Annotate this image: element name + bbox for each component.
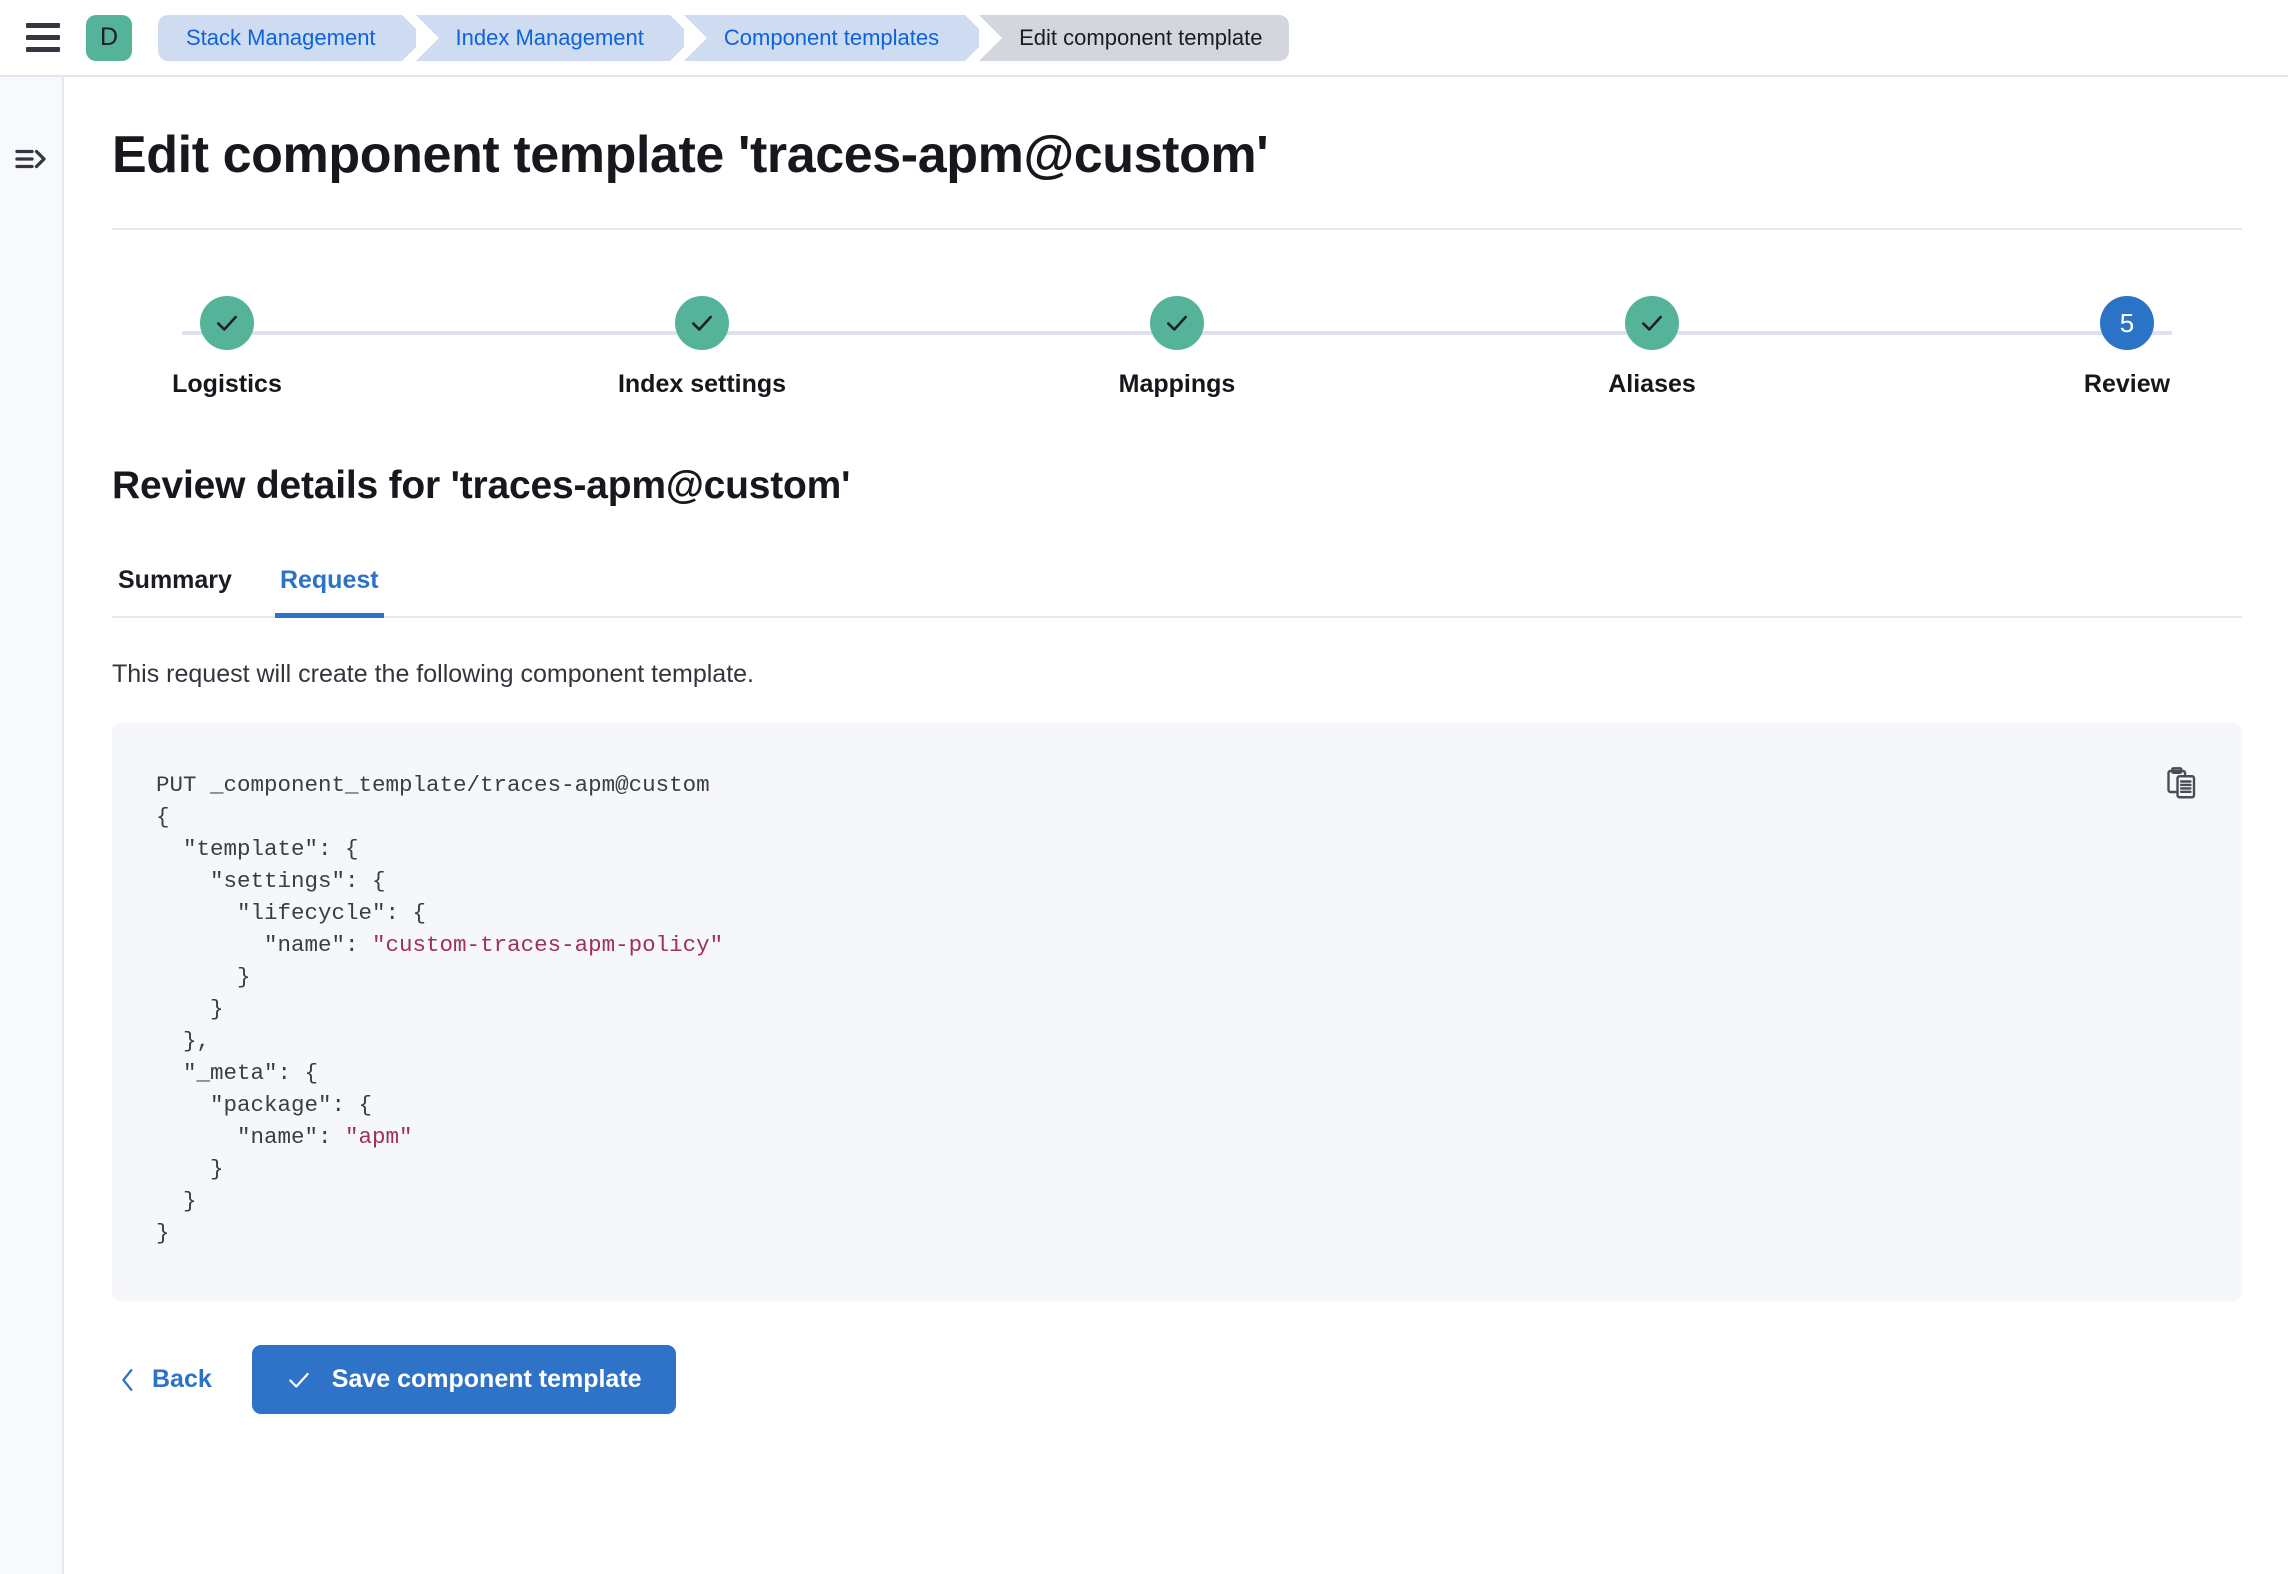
save-button-label: Save component template bbox=[332, 1365, 642, 1394]
code-line: } bbox=[156, 964, 251, 990]
tab-summary[interactable]: Summary bbox=[113, 566, 237, 618]
code-line: { bbox=[156, 804, 170, 830]
hamburger-menu-icon[interactable] bbox=[26, 21, 60, 55]
check-icon bbox=[1639, 310, 1665, 336]
code-string-value: "custom-traces-apm-policy" bbox=[372, 932, 723, 958]
step-mappings[interactable]: Mappings bbox=[1062, 296, 1292, 399]
wizard-footer: Back Save component template bbox=[112, 1345, 2288, 1414]
step-aliases[interactable]: Aliases bbox=[1537, 296, 1767, 399]
step-label: Mappings bbox=[1119, 370, 1236, 399]
code-line: "lifecycle": { bbox=[156, 900, 426, 926]
code-line: "package": { bbox=[156, 1092, 372, 1118]
step-complete-circle bbox=[1625, 296, 1679, 350]
back-button[interactable]: Back bbox=[112, 1357, 218, 1402]
code-line: "_meta": { bbox=[156, 1060, 318, 1086]
code-line: } bbox=[156, 1156, 224, 1182]
top-navigation-bar: D Stack Management Index Management Comp… bbox=[0, 0, 2288, 77]
review-heading: Review details for 'traces-apm@custom' bbox=[112, 464, 2288, 508]
breadcrumb-item-stack-management[interactable]: Stack Management bbox=[158, 15, 402, 61]
review-tabs: Summary Request bbox=[112, 564, 2242, 618]
tab-request[interactable]: Request bbox=[275, 566, 384, 618]
page-title: Edit component template 'traces-apm@cust… bbox=[112, 125, 2288, 185]
request-code-text: PUT _component_template/traces-apm@custo… bbox=[156, 769, 2202, 1249]
chevron-left-icon bbox=[118, 1367, 138, 1393]
code-line: "name": bbox=[156, 1124, 345, 1150]
step-complete-circle bbox=[1150, 296, 1204, 350]
step-logistics[interactable]: Logistics bbox=[112, 296, 342, 399]
step-label: Logistics bbox=[172, 370, 282, 399]
request-description: This request will create the following c… bbox=[112, 660, 2288, 689]
breadcrumb-item-edit-component-template: Edit component template bbox=[979, 15, 1288, 61]
step-label: Review bbox=[2084, 370, 2170, 399]
code-line: } bbox=[156, 1188, 197, 1214]
main-content-area: Edit component template 'traces-apm@cust… bbox=[66, 77, 2288, 1574]
expand-sidebar-icon[interactable] bbox=[14, 144, 50, 174]
step-complete-circle bbox=[200, 296, 254, 350]
step-index-settings[interactable]: Index settings bbox=[587, 296, 817, 399]
breadcrumb: Stack Management Index Management Compon… bbox=[158, 15, 1289, 61]
wizard-stepper: Logistics Index settings Mappings bbox=[112, 296, 2242, 426]
check-icon bbox=[1164, 310, 1190, 336]
step-label: Aliases bbox=[1608, 370, 1696, 399]
hamburger-line bbox=[26, 35, 60, 40]
avatar[interactable]: D bbox=[86, 15, 132, 61]
code-line: "settings": { bbox=[156, 868, 386, 894]
step-review[interactable]: 5 Review bbox=[2012, 296, 2242, 399]
code-line: } bbox=[156, 1220, 170, 1246]
back-button-label: Back bbox=[152, 1365, 212, 1394]
title-divider bbox=[112, 228, 2242, 230]
left-sidebar-rail bbox=[0, 77, 64, 1574]
step-label: Index settings bbox=[618, 370, 786, 399]
step-active-circle: 5 bbox=[2100, 296, 2154, 350]
check-icon bbox=[286, 1367, 312, 1393]
breadcrumb-item-component-templates[interactable]: Component templates bbox=[684, 15, 965, 61]
code-line: }, bbox=[156, 1028, 210, 1054]
breadcrumb-item-index-management[interactable]: Index Management bbox=[416, 15, 670, 61]
code-line: "template": { bbox=[156, 836, 359, 862]
code-line: "name": bbox=[156, 932, 372, 958]
code-line: PUT _component_template/traces-apm@custo… bbox=[156, 772, 710, 798]
hamburger-line bbox=[26, 23, 60, 28]
copy-to-clipboard-icon[interactable] bbox=[2164, 765, 2200, 801]
check-icon bbox=[214, 310, 240, 336]
request-code-block: PUT _component_template/traces-apm@custo… bbox=[112, 723, 2242, 1301]
code-string-value: "apm" bbox=[345, 1124, 413, 1150]
hamburger-line bbox=[26, 47, 60, 52]
check-icon bbox=[689, 310, 715, 336]
save-component-template-button[interactable]: Save component template bbox=[252, 1345, 676, 1414]
step-complete-circle bbox=[675, 296, 729, 350]
code-line: } bbox=[156, 996, 224, 1022]
